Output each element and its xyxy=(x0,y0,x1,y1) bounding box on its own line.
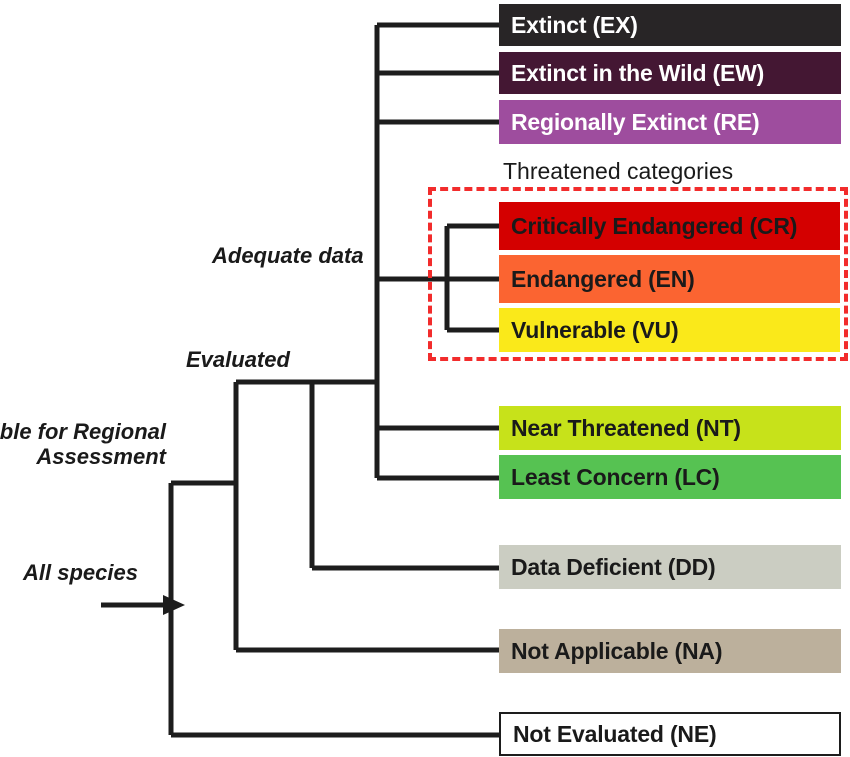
category-box-re[interactable]: Regionally Extinct (RE) xyxy=(499,100,841,144)
category-label-cr: Critically Endangered (CR) xyxy=(511,213,797,240)
category-box-en[interactable]: Endangered (EN) xyxy=(499,255,840,303)
category-label-na: Not Applicable (NA) xyxy=(511,638,722,665)
node-label-adequate-data: Adequate data xyxy=(212,244,364,269)
category-label-nt: Near Threatened (NT) xyxy=(511,415,741,442)
node-label-all-species: All species xyxy=(23,561,138,586)
category-label-vu: Vulnerable (VU) xyxy=(511,317,678,344)
category-label-dd: Data Deficient (DD) xyxy=(511,554,716,581)
category-label-ex: Extinct (EX) xyxy=(511,12,638,39)
node-label-evaluated: Evaluated xyxy=(186,348,290,373)
category-box-ne[interactable]: Not Evaluated (NE) xyxy=(499,712,841,756)
node-label-eligible-for-regional-assessment: Eligible for Regional Assessment xyxy=(0,420,166,469)
category-box-ew[interactable]: Extinct in the Wild (EW) xyxy=(499,52,841,94)
category-box-lc[interactable]: Least Concern (LC) xyxy=(499,455,841,499)
category-label-en: Endangered (EN) xyxy=(511,266,695,293)
iucn-category-diagram: Threatened categories Adequate data Eval… xyxy=(0,0,850,757)
threatened-categories-title: Threatened categories xyxy=(503,158,733,185)
category-box-dd[interactable]: Data Deficient (DD) xyxy=(499,545,841,589)
category-label-re: Regionally Extinct (RE) xyxy=(511,109,759,136)
all-species-arrowhead xyxy=(163,595,185,615)
category-label-lc: Least Concern (LC) xyxy=(511,464,720,491)
category-box-cr[interactable]: Critically Endangered (CR) xyxy=(499,202,840,250)
category-box-nt[interactable]: Near Threatened (NT) xyxy=(499,406,841,450)
category-box-ex[interactable]: Extinct (EX) xyxy=(499,4,841,46)
category-box-vu[interactable]: Vulnerable (VU) xyxy=(499,308,840,352)
category-label-ne: Not Evaluated (NE) xyxy=(513,721,716,748)
category-label-ew: Extinct in the Wild (EW) xyxy=(511,60,764,87)
category-box-na[interactable]: Not Applicable (NA) xyxy=(499,629,841,673)
